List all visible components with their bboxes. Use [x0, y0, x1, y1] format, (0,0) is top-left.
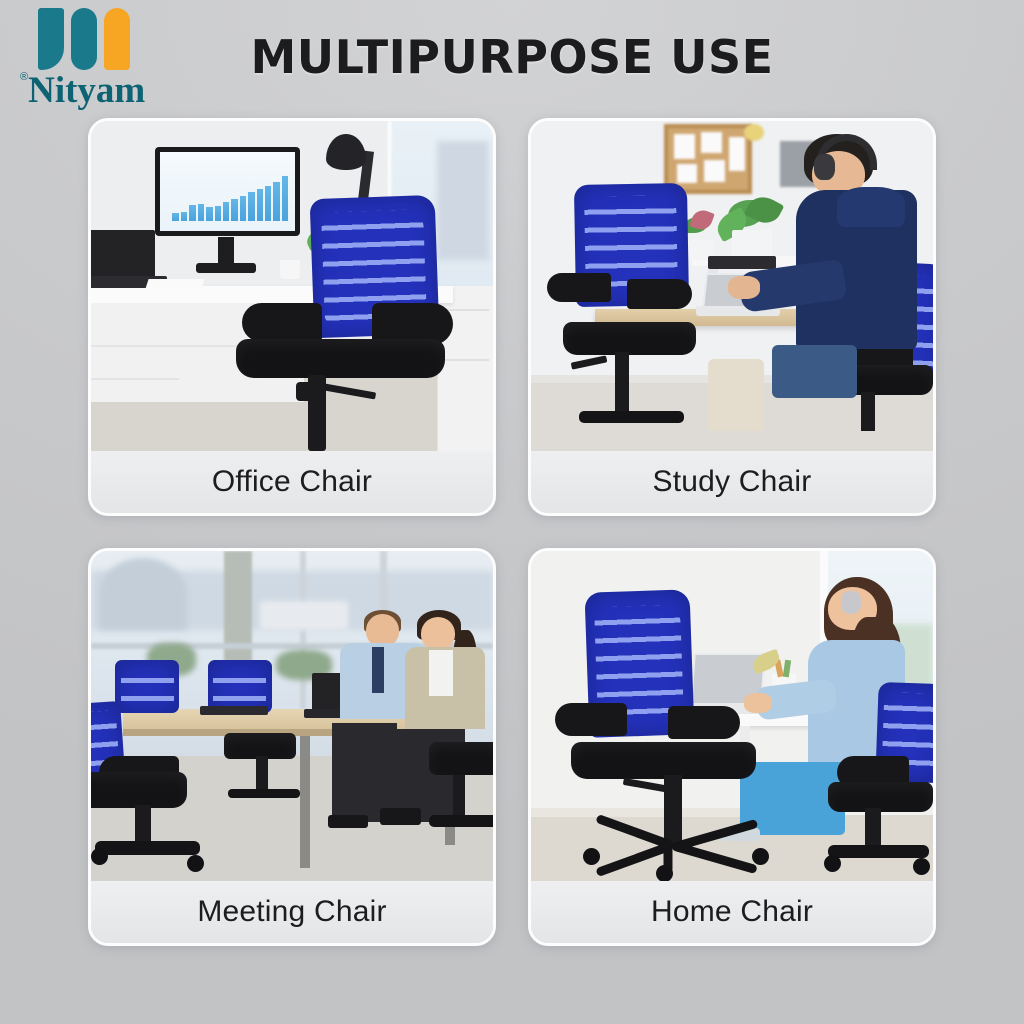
study-chair-photo	[531, 121, 933, 451]
usecase-card-meeting-chair[interactable]: Meeting Chair	[88, 548, 496, 946]
meeting-chair-photo	[91, 551, 493, 881]
cork-board	[664, 124, 752, 193]
usecase-card-grid: Office Chair	[88, 118, 936, 980]
chair-backrest-row-1	[115, 660, 179, 713]
person-woman-head	[421, 617, 455, 650]
page-title: MULTIPURPOSE USE	[0, 30, 1024, 84]
person-man-trousers	[332, 723, 396, 822]
usecase-card-office-chair[interactable]: Office Chair	[88, 118, 496, 516]
card-caption-meeting-chair: Meeting Chair	[91, 881, 493, 943]
usecase-card-study-chair[interactable]: Study Chair	[528, 118, 936, 516]
card-caption-office-chair: Office Chair	[91, 451, 493, 513]
laptop	[91, 230, 155, 280]
monitor	[155, 147, 300, 236]
chair-seat	[236, 339, 445, 379]
office-chair-photo	[91, 121, 493, 451]
chair-seat-home-front	[571, 742, 756, 778]
card-caption-home-chair: Home Chair	[531, 881, 933, 943]
chair-backrest-row-2	[208, 660, 272, 713]
person-man-head	[366, 614, 398, 647]
bar-chart-on-monitor	[172, 165, 288, 221]
headset-icon	[841, 591, 861, 614]
person-jeans	[772, 345, 856, 398]
monitor-screen	[160, 152, 295, 231]
usecase-card-home-chair[interactable]: Home Chair	[528, 548, 936, 946]
card-caption-study-chair: Study Chair	[531, 451, 933, 513]
home-chair-photo	[531, 551, 933, 881]
chair-armrest-left	[242, 303, 322, 343]
